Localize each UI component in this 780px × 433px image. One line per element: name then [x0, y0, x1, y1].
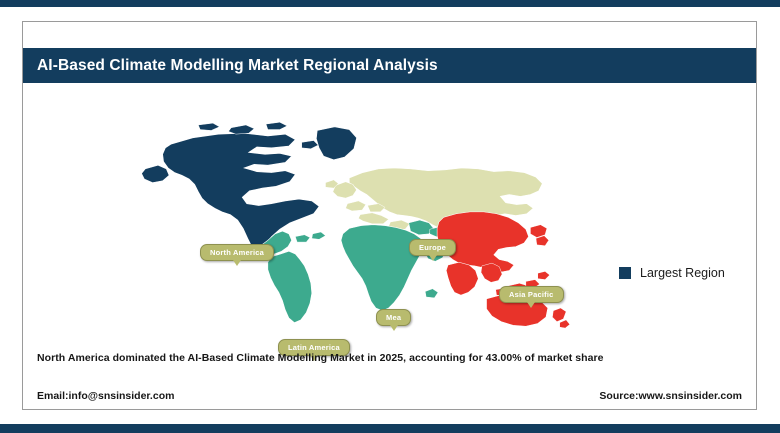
bottom-accent-bar — [0, 424, 780, 433]
legend-label: Largest Region — [640, 266, 725, 280]
map-label-mea[interactable]: Mea — [376, 309, 411, 326]
top-accent-bar — [0, 0, 780, 7]
legend: Largest Region — [619, 266, 725, 280]
title-bar: AI-Based Climate Modelling Market Region… — [23, 48, 756, 83]
contact-email: Email:info@snsinsider.com — [37, 390, 174, 402]
map-label-text: Latin America — [288, 343, 340, 352]
map-label-text: Mea — [386, 313, 401, 322]
map-label-asia-pacific[interactable]: Asia Pacific — [499, 286, 564, 303]
map-label-europe[interactable]: Europe — [409, 239, 456, 256]
map-label-text: Europe — [419, 243, 446, 252]
map-region-mea[interactable] — [341, 220, 449, 311]
source-attribution: Source:www.snsinsider.com — [599, 390, 742, 402]
map-region-asia-pacific[interactable] — [437, 212, 570, 328]
footer-row: Email:info@snsinsider.com Source:www.sns… — [37, 390, 742, 402]
market-share-note: North America dominated the AI-Based Cli… — [37, 352, 604, 364]
map-region-north-america[interactable] — [142, 122, 357, 251]
report-card: AI-Based Climate Modelling Market Region… — [22, 21, 757, 410]
map-label-text: North America — [210, 248, 264, 257]
map-label-text: Asia Pacific — [509, 290, 554, 299]
world-map-container: North America Europe Asia Pacific Mea La… — [23, 84, 756, 339]
page-title: AI-Based Climate Modelling Market Region… — [37, 57, 438, 75]
square-icon — [619, 267, 631, 279]
map-label-north-america[interactable]: North America — [200, 244, 274, 261]
